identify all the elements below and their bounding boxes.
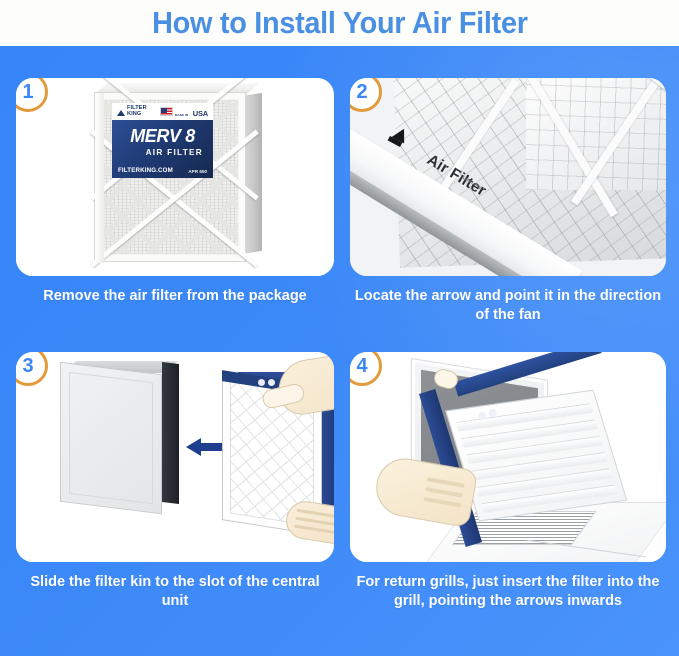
- brand-lockup: FILTER KING: [117, 106, 147, 118]
- filter-arrow-markers: [258, 379, 278, 387]
- step-4-caption: For return grills, just insert the filte…: [350, 573, 666, 612]
- step-card-1: 1: [16, 78, 334, 306]
- unit-slot-opening: [162, 362, 179, 504]
- page-title: How to Install Your Air Filter: [152, 5, 528, 41]
- label-header: FILTER KING MADE IN USA: [112, 103, 213, 120]
- step-1-image-card: 1: [16, 78, 334, 276]
- header-bar: How to Install Your Air Filter: [0, 0, 679, 46]
- crown-icon: [117, 108, 125, 116]
- step-card-4: 4: [350, 352, 666, 612]
- step-2-illustration: Air Filter AIRFLOW: [350, 78, 666, 276]
- label-footer: FILTERKING.COM APR 650: [112, 167, 213, 174]
- step-number-4: 4: [356, 356, 367, 376]
- filter-front-face: FILTER KING MADE IN USA: [94, 92, 246, 262]
- hand-bottom: [283, 498, 334, 547]
- apr-rating-text: APR 650: [188, 169, 207, 174]
- step-3-caption: Slide the filter kin to the slot of the …: [16, 573, 334, 612]
- merv-rating-text: MERV 8: [118, 127, 207, 145]
- country-text: USA: [193, 109, 208, 118]
- step-number-2: 2: [356, 82, 367, 102]
- central-unit-slot: [60, 362, 180, 512]
- step-1-caption: Remove the air filter from the package: [16, 287, 334, 306]
- step-number-3: 3: [22, 356, 33, 376]
- step-3-illustration: [16, 352, 334, 562]
- unit-front-face: [60, 362, 162, 515]
- step-2-caption: Locate the arrow and point it in the dir…: [350, 287, 666, 326]
- step-2-image-card: 2 Air Filter AIRFLOW: [350, 78, 666, 276]
- unit-inner-border: [69, 372, 153, 504]
- product-label: FILTER KING MADE IN USA: [112, 103, 213, 178]
- step-4-illustration: [350, 352, 666, 562]
- filter-left-edge: [95, 93, 104, 263]
- steps-grid: 1: [0, 46, 679, 656]
- made-in-text: MADE IN: [175, 113, 188, 117]
- step-1-illustration: FILTER KING MADE IN USA: [16, 78, 334, 276]
- step-card-3: 3: [16, 352, 334, 612]
- air-filter-product-photo: FILTER KING MADE IN USA: [94, 92, 262, 262]
- step-number-1: 1: [22, 82, 33, 102]
- product-type-text: AIR FILTER: [118, 148, 207, 157]
- step-3-image-card: 3: [16, 352, 334, 562]
- label-main-panel: MERV 8 AIR FILTER FILTERKING.COM APR 650: [112, 120, 213, 178]
- website-text: FILTERKING.COM: [118, 167, 173, 174]
- made-in-usa-badge: MADE IN USA: [160, 103, 208, 121]
- infographic-page: How to Install Your Air Filter 1: [0, 0, 679, 656]
- usa-flag-icon: [160, 107, 173, 116]
- brand-name: FILTER KING: [127, 106, 147, 118]
- step-4-image-card: 4: [350, 352, 666, 562]
- step-card-2: 2 Air Filter AIRFLOW Locate th: [350, 78, 666, 326]
